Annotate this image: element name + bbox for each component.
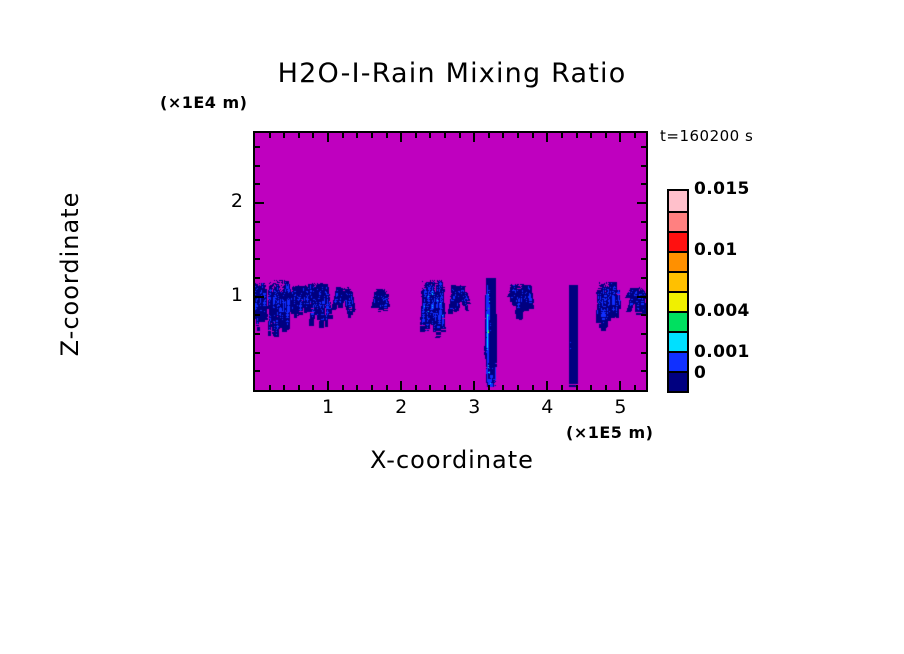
x-tick-label: 2 bbox=[386, 396, 416, 418]
colorbar-band bbox=[669, 311, 687, 331]
colorbar-tick-label: 0.01 bbox=[694, 240, 738, 260]
tick-mark bbox=[255, 333, 260, 335]
tick-mark bbox=[312, 133, 314, 138]
tick-mark bbox=[546, 381, 548, 390]
y-axis-title: Z-coordinate bbox=[56, 114, 84, 434]
colorbar-band bbox=[669, 251, 687, 271]
tick-mark bbox=[371, 385, 373, 390]
tick-mark bbox=[488, 133, 490, 138]
tick-mark bbox=[255, 296, 264, 298]
colorbar-band bbox=[669, 191, 687, 211]
tick-mark bbox=[255, 165, 260, 167]
tick-mark bbox=[415, 133, 417, 138]
tick-mark bbox=[473, 381, 475, 390]
colorbar-separator bbox=[669, 271, 687, 273]
tick-mark bbox=[255, 352, 260, 354]
tick-mark bbox=[429, 385, 431, 390]
tick-mark bbox=[255, 258, 260, 260]
tick-mark bbox=[283, 133, 285, 138]
tick-mark bbox=[255, 314, 260, 316]
tick-mark bbox=[255, 239, 260, 241]
colorbar-separator bbox=[669, 251, 687, 253]
x-tick-label: 4 bbox=[532, 396, 562, 418]
plot-area bbox=[253, 131, 648, 392]
tick-mark bbox=[641, 165, 646, 167]
tick-mark bbox=[641, 277, 646, 279]
tick-mark bbox=[429, 133, 431, 138]
tick-mark bbox=[371, 133, 373, 138]
tick-mark bbox=[590, 133, 592, 138]
colorbar-tick-label: 0.004 bbox=[694, 301, 750, 321]
colorbar-band bbox=[669, 331, 687, 351]
y-axis-unit-label: (×1E4 m) bbox=[160, 93, 247, 112]
tick-mark bbox=[641, 370, 646, 372]
tick-mark bbox=[561, 385, 563, 390]
x-axis-unit-label: (×1E5 m) bbox=[566, 423, 653, 442]
y-tick-label: 1 bbox=[213, 284, 243, 306]
tick-mark bbox=[356, 385, 358, 390]
colorbar-tick-label: 0 bbox=[694, 363, 706, 383]
tick-mark bbox=[255, 221, 260, 223]
tick-mark bbox=[269, 385, 271, 390]
x-tick-label: 3 bbox=[459, 396, 489, 418]
tick-mark bbox=[641, 314, 646, 316]
colorbar-separator bbox=[669, 311, 687, 313]
tick-mark bbox=[327, 133, 329, 142]
tick-mark bbox=[576, 133, 578, 138]
x-tick-label: 5 bbox=[605, 396, 635, 418]
tick-mark bbox=[634, 133, 636, 138]
tick-mark bbox=[637, 202, 646, 204]
colorbar-separator bbox=[669, 351, 687, 353]
tick-mark bbox=[459, 385, 461, 390]
tick-mark bbox=[641, 239, 646, 241]
colorbar-band bbox=[669, 351, 687, 371]
tick-mark bbox=[641, 258, 646, 260]
tick-mark bbox=[255, 146, 260, 148]
colorbar-separator bbox=[669, 371, 687, 373]
tick-mark bbox=[342, 133, 344, 138]
colorbar-tick-label: 0.001 bbox=[694, 342, 750, 362]
contour-field-canvas bbox=[255, 133, 646, 390]
colorbar-band bbox=[669, 291, 687, 311]
tick-mark bbox=[444, 385, 446, 390]
tick-mark bbox=[386, 385, 388, 390]
tick-mark bbox=[641, 333, 646, 335]
tick-mark bbox=[502, 385, 504, 390]
colorbar-band bbox=[669, 231, 687, 251]
tick-mark bbox=[605, 133, 607, 138]
tick-mark bbox=[532, 385, 534, 390]
colorbar-band bbox=[669, 271, 687, 291]
tick-mark bbox=[386, 133, 388, 138]
tick-mark bbox=[298, 133, 300, 138]
tick-mark bbox=[356, 133, 358, 138]
x-axis-title: X-coordinate bbox=[0, 446, 904, 474]
tick-mark bbox=[255, 277, 260, 279]
y-tick-label: 2 bbox=[213, 190, 243, 212]
tick-mark bbox=[641, 183, 646, 185]
tick-mark bbox=[415, 385, 417, 390]
tick-mark bbox=[269, 133, 271, 138]
x-tick-label: 1 bbox=[313, 396, 343, 418]
tick-mark bbox=[298, 385, 300, 390]
tick-mark bbox=[517, 385, 519, 390]
tick-mark bbox=[459, 133, 461, 138]
tick-mark bbox=[561, 133, 563, 138]
tick-mark bbox=[517, 133, 519, 138]
tick-mark bbox=[641, 221, 646, 223]
tick-mark bbox=[641, 146, 646, 148]
colorbar bbox=[667, 189, 689, 393]
tick-mark bbox=[342, 385, 344, 390]
tick-mark bbox=[641, 352, 646, 354]
tick-mark bbox=[488, 385, 490, 390]
tick-mark bbox=[605, 385, 607, 390]
tick-mark bbox=[619, 381, 621, 390]
tick-mark bbox=[619, 133, 621, 142]
tick-mark bbox=[400, 381, 402, 390]
colorbar-band bbox=[669, 371, 687, 391]
tick-mark bbox=[637, 296, 646, 298]
colorbar-separator bbox=[669, 291, 687, 293]
colorbar-separator bbox=[669, 331, 687, 333]
tick-mark bbox=[502, 133, 504, 138]
tick-mark bbox=[532, 133, 534, 138]
tick-mark bbox=[255, 202, 264, 204]
tick-mark bbox=[590, 385, 592, 390]
tick-mark bbox=[312, 385, 314, 390]
page-title: H2O-I-Rain Mixing Ratio bbox=[0, 58, 904, 89]
tick-mark bbox=[444, 133, 446, 138]
tick-mark bbox=[255, 183, 260, 185]
colorbar-separator bbox=[669, 231, 687, 233]
tick-mark bbox=[327, 381, 329, 390]
tick-mark bbox=[546, 133, 548, 142]
tick-mark bbox=[473, 133, 475, 142]
tick-mark bbox=[400, 133, 402, 142]
tick-mark bbox=[255, 370, 260, 372]
colorbar-tick-label: 0.015 bbox=[694, 179, 750, 199]
timestamp-annotation: t=160200 s bbox=[660, 127, 753, 145]
colorbar-band bbox=[669, 211, 687, 231]
tick-mark bbox=[576, 385, 578, 390]
colorbar-separator bbox=[669, 211, 687, 213]
tick-mark bbox=[283, 385, 285, 390]
tick-mark bbox=[634, 385, 636, 390]
